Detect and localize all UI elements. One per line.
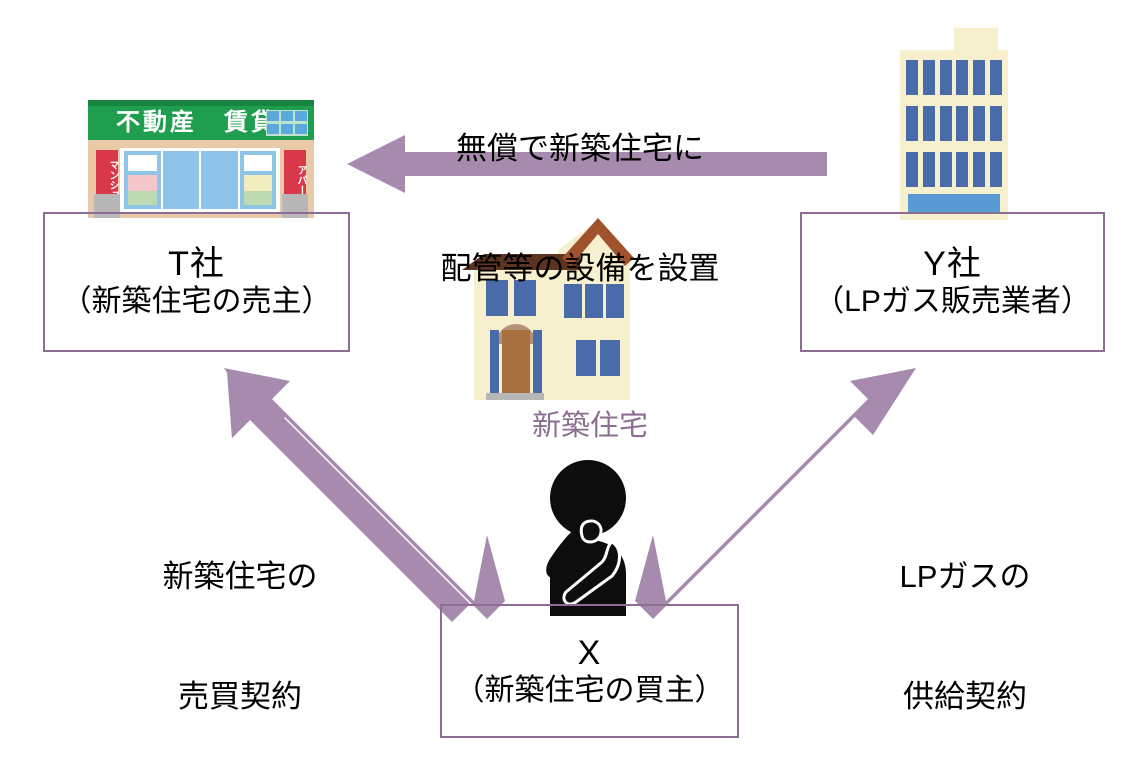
building-entrance-band bbox=[908, 194, 1000, 213]
shop-sign-label: 不動産 賃貸 bbox=[116, 107, 276, 139]
building-window-row bbox=[906, 106, 1002, 141]
shop-window bbox=[120, 148, 280, 212]
shop-window-pane bbox=[124, 151, 161, 209]
building-window-row bbox=[906, 60, 1002, 95]
top-arrow-label-line1: 無償で新築住宅に bbox=[380, 129, 780, 169]
shop-window-pane bbox=[240, 151, 277, 209]
right-arrow-label: LPガスの 供給契約 bbox=[845, 476, 1085, 783]
entity-subtitle-t-company: （新築住宅の売主） bbox=[62, 285, 332, 320]
shop-window-pane bbox=[201, 151, 238, 209]
entity-subtitle-x-buyer: （新築住宅の買主） bbox=[455, 674, 725, 709]
real-estate-shop-illustration: 不動産 賃貸 マンション アパート bbox=[88, 78, 314, 218]
entity-name-t-company: T社 bbox=[168, 245, 225, 283]
building-penthouse bbox=[954, 28, 998, 52]
shop-sign-mini-posters bbox=[266, 110, 308, 136]
entity-box-x-buyer[interactable]: X （新築住宅の買主） bbox=[440, 604, 739, 738]
right-arrow-label-line1: LPガスの bbox=[845, 557, 1085, 597]
entity-name-y-company: Y社 bbox=[923, 245, 982, 283]
left-arrow-label: 新築住宅の 売買契約 bbox=[120, 476, 360, 783]
top-arrow-label-line2: 配管等の設備を設置 bbox=[380, 249, 780, 289]
entity-subtitle-y-company: （LPガス販売業者） bbox=[814, 285, 1091, 320]
entity-box-y-company[interactable]: Y社 （LPガス販売業者） bbox=[800, 212, 1105, 352]
buyer-person-illustration bbox=[526, 456, 644, 616]
office-building-illustration bbox=[896, 28, 1010, 220]
person-svg bbox=[526, 456, 644, 616]
entity-name-x-buyer: X bbox=[578, 634, 602, 672]
shop-window-pane bbox=[163, 151, 200, 209]
diagram-canvas: 不動産 賃貸 マンション アパート bbox=[0, 0, 1140, 783]
entity-box-t-company[interactable]: T社 （新築住宅の売主） bbox=[43, 212, 350, 352]
right-arrow-label-line2: 供給契約 bbox=[845, 677, 1085, 717]
left-arrow-label-line1: 新築住宅の bbox=[120, 557, 360, 597]
house-caption: 新築住宅 bbox=[470, 402, 710, 444]
top-arrow-label: 無償で新築住宅に 配管等の設備を設置 bbox=[380, 48, 780, 370]
left-arrow-label-line2: 売買契約 bbox=[120, 677, 360, 717]
building-window-row bbox=[906, 152, 1002, 187]
building-window-grid bbox=[906, 60, 1002, 198]
